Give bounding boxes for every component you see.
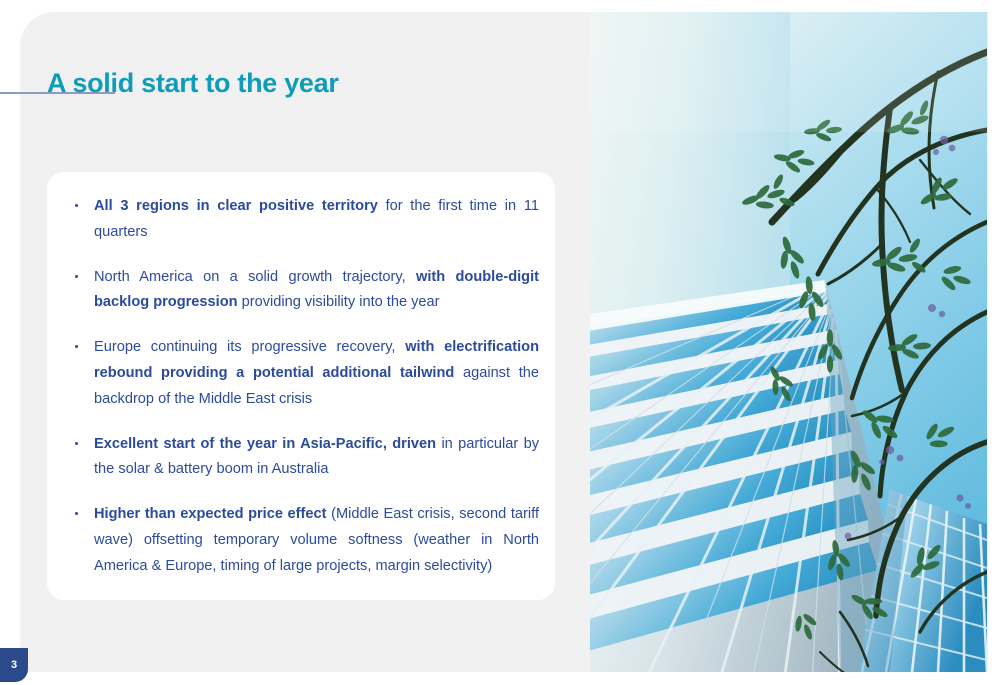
bullet-card: All 3 regions in clear positive territor… (47, 172, 555, 600)
bullet-dot-icon (75, 204, 78, 207)
bullet-list: All 3 regions in clear positive territor… (61, 194, 539, 580)
bullet-regions: All 3 regions in clear positive territor… (61, 194, 539, 246)
slide-root: A solid start to the year All 3 regions … (0, 0, 1000, 685)
bullet-text-run: North America on a solid growth trajecto… (94, 269, 416, 285)
bullet-europe: Europe continuing its progressive recove… (61, 335, 539, 412)
bullet-dot-icon (75, 512, 78, 515)
bullet-dot-icon (75, 275, 78, 278)
page-title: A solid start to the year (47, 68, 339, 99)
page-number-badge: 3 (0, 648, 28, 682)
bullet-text-run: Higher than expected price effect (94, 506, 327, 522)
page-number-label: 3 (11, 660, 17, 671)
bullet-text-run: providing visibility into the year (238, 294, 440, 310)
bullet-dot-icon (75, 442, 78, 445)
bullet-asia-pacific: Excellent start of the year in Asia-Paci… (61, 432, 539, 484)
bullet-north-america: North America on a solid growth trajecto… (61, 265, 539, 317)
bullet-price-effect: Higher than expected price effect (Middl… (61, 502, 539, 579)
skyscraper-photo (590, 12, 987, 672)
bullet-text-run: Europe continuing its progressive recove… (94, 339, 405, 355)
bullet-text-run: Excellent start of the year in Asia-Paci… (94, 436, 436, 452)
bullet-dot-icon (75, 345, 78, 348)
bullet-text-run: All 3 regions in clear positive territor… (94, 198, 378, 214)
